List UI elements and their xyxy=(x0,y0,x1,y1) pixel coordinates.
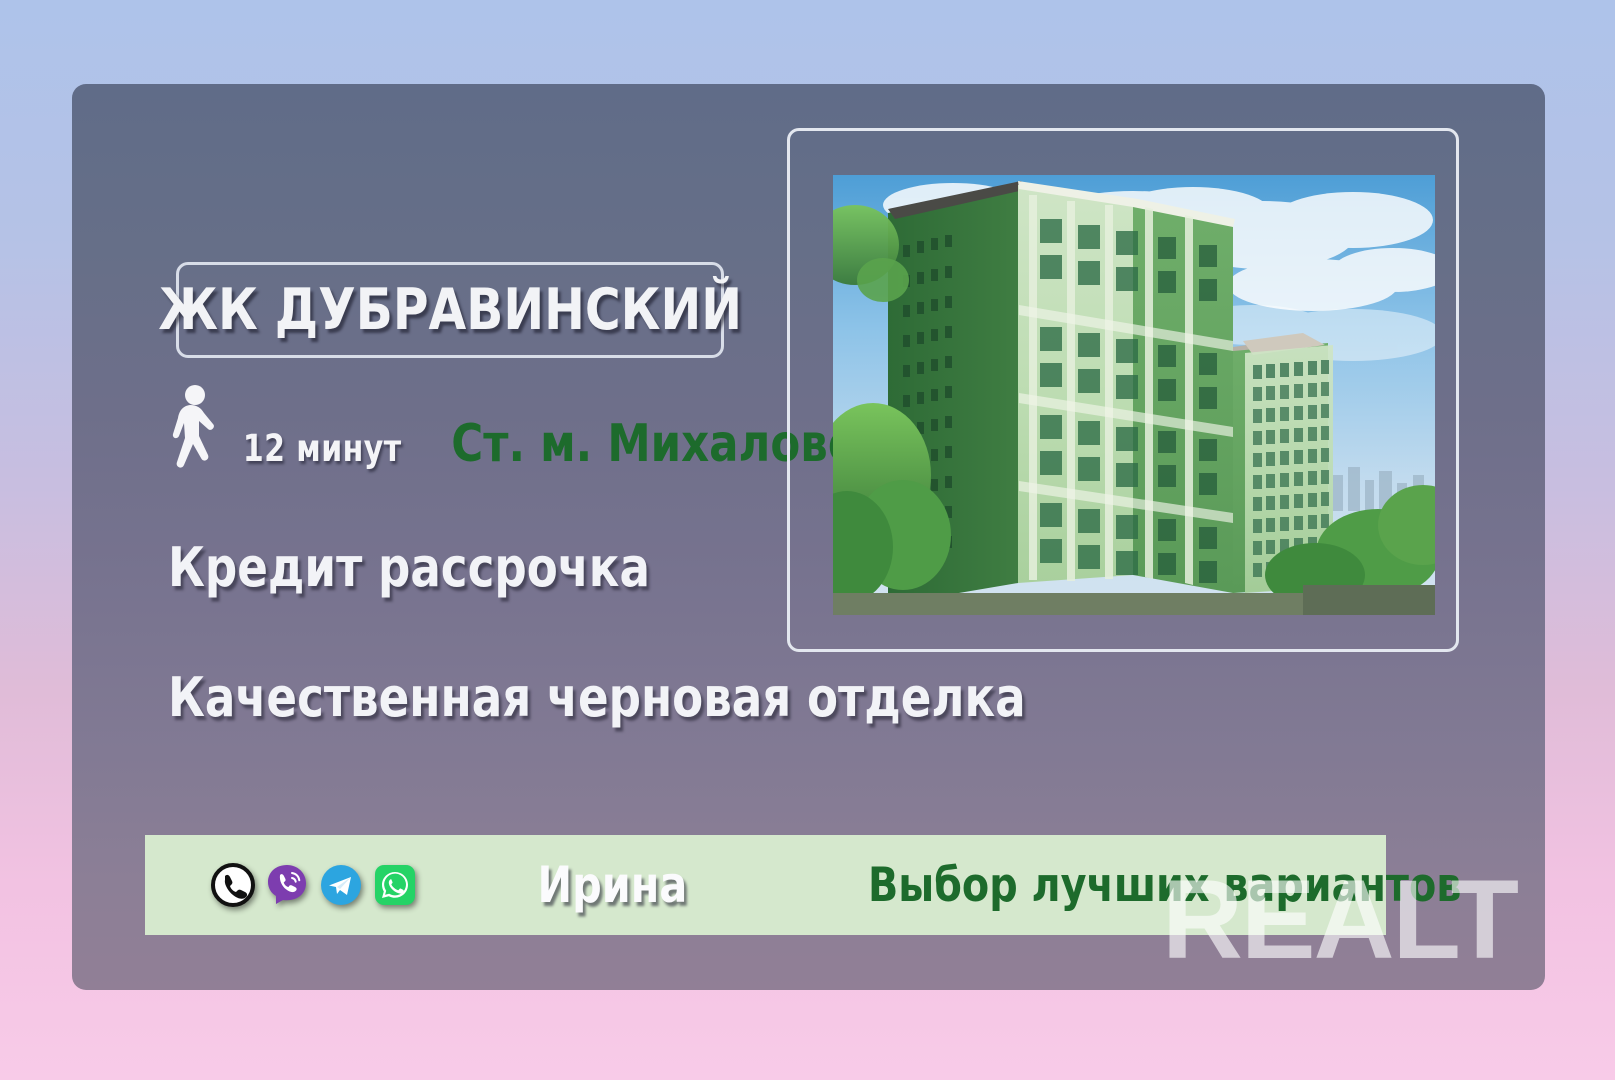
project-photo xyxy=(833,175,1435,615)
page-title: ЖК ДУБРАВИНСКИЙ xyxy=(158,277,742,343)
advertisement-card: ЖК ДУБРАВИНСКИЙ 12 минут Ст. м. Михалово… xyxy=(72,84,1545,990)
project-title-plate: ЖК ДУБРАВИНСКИЙ xyxy=(176,262,724,358)
walk-minutes-label: 12 минут xyxy=(243,427,402,476)
whatsapp-icon[interactable] xyxy=(373,863,417,907)
viber-icon[interactable] xyxy=(265,863,309,907)
phone-icon[interactable] xyxy=(211,863,255,907)
messenger-icon-group xyxy=(211,863,417,907)
telegram-icon[interactable] xyxy=(319,863,363,907)
contact-bar: Ирина Выбор лучших вариантов xyxy=(145,835,1386,935)
agent-name: Ирина xyxy=(538,856,688,914)
contact-tagline: Выбор лучших вариантов xyxy=(868,858,1461,913)
pedestrian-walking-icon xyxy=(168,384,224,476)
walk-distance-row: 12 минут Ст. м. Михалово xyxy=(168,384,873,476)
project-photo-frame xyxy=(787,128,1459,652)
feature-rough-finishing: Качественная черновая отделка xyxy=(168,666,1026,729)
feature-credit-installment: Кредит рассрочка xyxy=(168,536,650,599)
